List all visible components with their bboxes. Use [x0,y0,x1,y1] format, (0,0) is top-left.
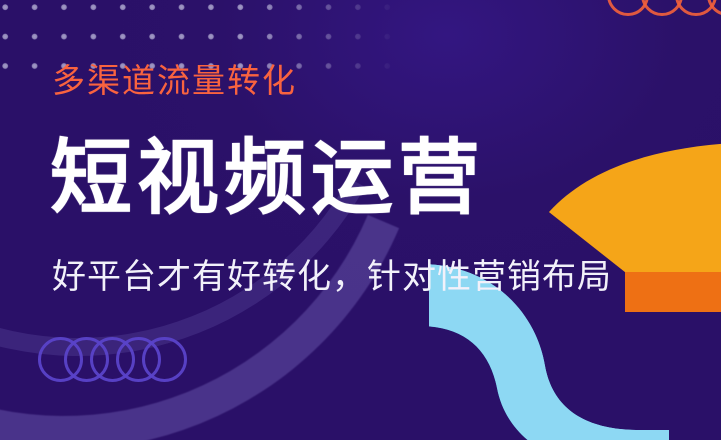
banner-copy-block: 多渠道流量转化 短视频运营 好平台才有好转化，针对性营销布局 [50,0,650,440]
banner-headline: 短视频运营 [50,138,485,220]
banner-eyebrow: 多渠道流量转化 [52,64,297,97]
banner-subline: 好平台才有好转化，针对性营销布局 [52,261,612,295]
promo-banner: 多渠道流量转化 短视频运营 好平台才有好转化，针对性营销布局 [0,0,721,440]
